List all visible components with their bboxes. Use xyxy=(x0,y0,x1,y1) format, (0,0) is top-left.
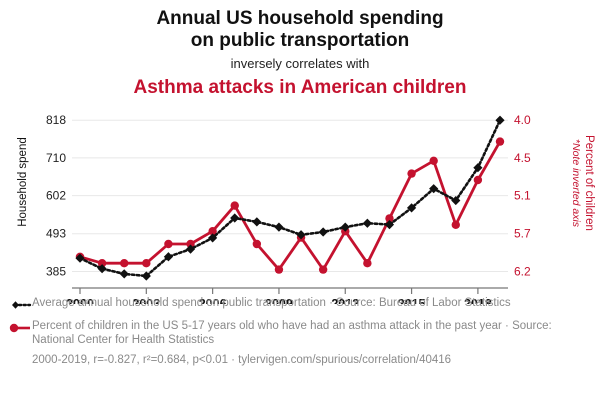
legend-label-series1: Average annual household spend on public… xyxy=(32,296,511,310)
black-diamond-dotted-line-icon xyxy=(6,297,32,313)
svg-text:6.2: 6.2 xyxy=(514,264,531,278)
chart-area: Household spend Percent of children *Not… xyxy=(0,104,600,304)
legend-item-series1: Average annual household spend on public… xyxy=(6,296,600,313)
line-chart-plot: 3854936027108184.04.55.15.76.22000200320… xyxy=(0,104,600,304)
svg-text:4.0: 4.0 xyxy=(514,113,531,127)
red-circle-solid-line-icon xyxy=(6,320,32,336)
svg-text:493: 493 xyxy=(46,227,66,241)
title-line-1: Annual US household spending xyxy=(0,8,600,30)
chart-footer: Average annual household spend on public… xyxy=(0,296,600,367)
legend-item-series2: Percent of children in the US 5-17 years… xyxy=(6,319,600,347)
svg-text:5.7: 5.7 xyxy=(514,227,531,241)
title-connector: inversely correlates with xyxy=(0,54,600,74)
correlation-stats: 2000-2019, r=-0.827, r²=0.684, p<0.01 · … xyxy=(6,353,600,367)
svg-text:710: 710 xyxy=(46,151,66,165)
svg-text:602: 602 xyxy=(46,189,66,203)
legend-label-series2: Percent of children in the US 5-17 years… xyxy=(32,319,577,347)
svg-text:385: 385 xyxy=(46,264,66,278)
chart-title-block: Annual US household spending on public t… xyxy=(0,0,600,100)
svg-text:5.1: 5.1 xyxy=(514,189,531,203)
svg-text:818: 818 xyxy=(46,113,66,127)
title-line-2: on public transportation xyxy=(0,30,600,52)
title-line-3: Asthma attacks in American children xyxy=(0,76,600,100)
svg-text:4.5: 4.5 xyxy=(514,151,531,165)
